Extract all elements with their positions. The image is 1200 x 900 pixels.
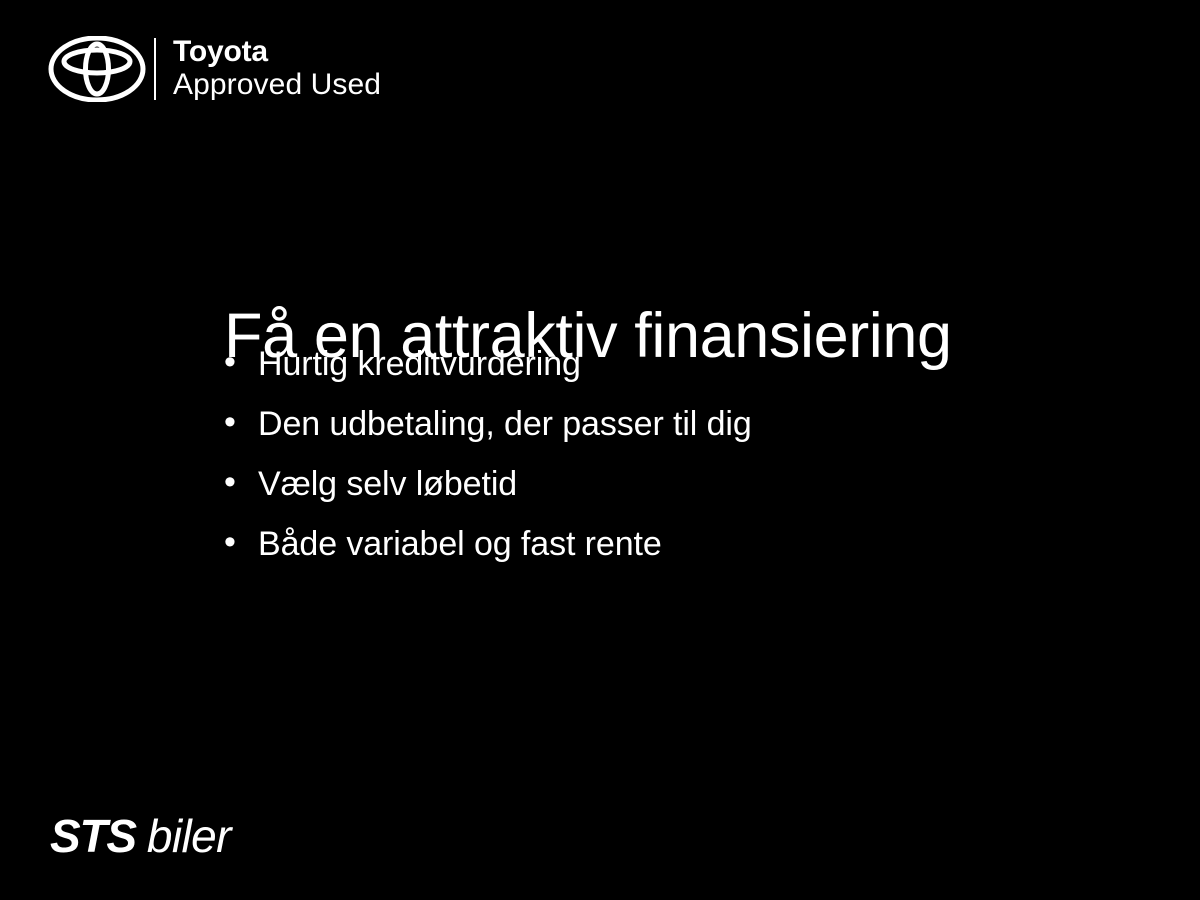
brand-text-block: Toyota Approved Used — [173, 36, 381, 102]
brand-name: Toyota — [173, 36, 381, 68]
list-item: • Vælg selv løbetid — [224, 460, 752, 520]
list-item: • Både variabel og fast rente — [224, 520, 752, 580]
bullet-marker-icon: • — [224, 398, 258, 446]
list-item-label: Både variabel og fast rente — [258, 520, 662, 568]
slide-canvas: Toyota Approved Used Få en attraktiv fin… — [0, 0, 1200, 900]
list-item-label: Den udbetaling, der passer til dig — [258, 400, 752, 448]
toyota-emblem-icon — [48, 36, 146, 102]
biler-wordmark: biler — [147, 812, 231, 860]
bullet-marker-icon: • — [224, 338, 258, 386]
sts-biler-logo: STS biler — [50, 812, 231, 860]
bullet-marker-icon: • — [224, 518, 258, 566]
list-item-label: Hurtig kreditvurdering — [258, 340, 581, 388]
list-item: • Hurtig kreditvurdering — [224, 340, 752, 400]
list-item: • Den udbetaling, der passer til dig — [224, 400, 752, 460]
bullet-marker-icon: • — [224, 458, 258, 506]
toyota-brand-lockup: Toyota Approved Used — [48, 36, 381, 102]
brand-subtitle: Approved Used — [173, 68, 381, 102]
feature-bullet-list: • Hurtig kreditvurdering • Den udbetalin… — [224, 340, 752, 580]
brand-divider — [154, 38, 156, 100]
list-item-label: Vælg selv løbetid — [258, 460, 517, 508]
sts-wordmark: STS — [50, 812, 136, 860]
